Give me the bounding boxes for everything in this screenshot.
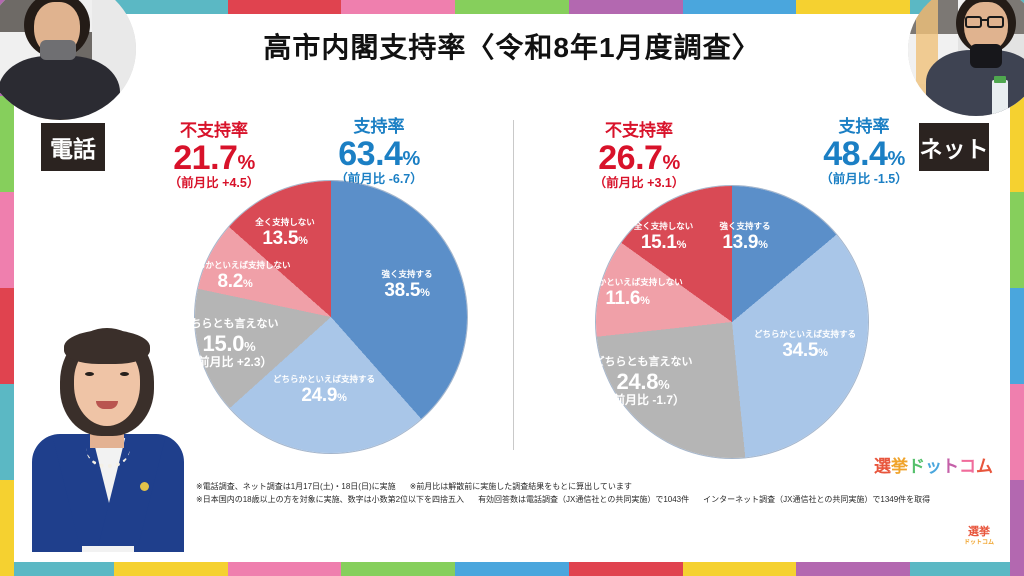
footnote-1a: ※電話調査、ネット調査は1月17日(土)・18日(日)に実施 — [196, 482, 396, 491]
headline-support-telephone: 支持率 63.4% （前月比 -6.7） — [304, 118, 454, 188]
slice-value: 15.1 — [641, 232, 677, 253]
corner-logo-top: 選挙 — [958, 527, 1000, 538]
headline-oppose-value: 26.7% — [569, 141, 709, 175]
percent-sign: % — [402, 148, 419, 170]
logo-char: ド — [908, 457, 925, 476]
logo-char: ッ — [925, 457, 942, 476]
glasses-icon — [965, 16, 982, 28]
slice-name: 全く支持しない — [230, 218, 340, 228]
slice-label-strong-oppose-tel: 全く支持しない 13.5% — [230, 218, 340, 250]
footnote-2c: インターネット調査（JX通信社との共同実施）で1349件を取得 — [703, 495, 930, 504]
logo-char: コ — [959, 457, 976, 476]
slice-value: 13.9 — [722, 232, 758, 253]
corner-watermark-logo: 選挙 ドットコム — [958, 522, 1000, 556]
logo-char: 選 — [874, 457, 891, 476]
slice-label-strong-oppose-net: 全く支持しない 15.1% — [606, 222, 721, 254]
slice-value: 8.2 — [218, 271, 244, 292]
video-overlay-right-speaker[interactable] — [908, 0, 1024, 116]
logo-char: ト — [942, 457, 959, 476]
slice-delta: （前月比 -1.7） — [568, 394, 718, 408]
slice-label-somewhat-oppose-net: どちらかといえば支持しない 11.6% — [570, 278, 685, 310]
slice-name: どちらかといえば支持する — [269, 375, 379, 385]
slice-name: 全く支持しない — [606, 222, 721, 232]
slice-value: 13.5 — [262, 228, 298, 249]
slice-value: 24.9 — [301, 385, 337, 406]
footnote-line-1: ※電話調査、ネット調査は1月17日(土)・18日(日)に実施※前月比は解散前に実… — [196, 480, 986, 493]
frame-segment — [0, 384, 14, 480]
slice-name: どちらかといえば支持しない — [180, 261, 290, 271]
slice-label-somewhat-support-tel: どちらかといえば支持する 24.9% — [269, 375, 379, 407]
percent-sign: % — [887, 148, 904, 170]
slice-name: どちらとも言えない — [568, 356, 718, 369]
headline-oppose-telephone: 不支持率 21.7% （前月比 +4.5） — [144, 122, 284, 192]
logo-char: ム — [976, 457, 993, 476]
percent-sign: % — [662, 152, 679, 174]
portrait-eye-left — [85, 372, 94, 376]
footnote-2b: 有効回答数は電話調査（JX通信社との共同実施）で1043件 — [478, 495, 689, 504]
cam-person-turtleneck — [970, 44, 1002, 68]
footnotes: ※電話調査、ネット調査は1月17日(土)・18日(日)に実施※前月比は解散前に実… — [196, 480, 986, 506]
headline-support-delta: （前月比 -1.5） — [789, 171, 939, 189]
slice-value: 15.0 — [203, 331, 245, 356]
headline-oppose-value: 21.7% — [144, 141, 284, 175]
glasses-bridge — [982, 19, 988, 21]
water-bottle-cap — [994, 76, 1006, 83]
slice-label-somewhat-oppose-tel: どちらかといえば支持しない 8.2% — [180, 261, 290, 293]
senkyo-dotcom-logo: 選挙ドットコム — [874, 452, 993, 477]
headline-oppose-internet: 不支持率 26.7% （前月比 +3.1） — [569, 122, 709, 192]
footnote-line-2: ※日本国内の18歳以上の方を対象に実施、数字は小数第2位以下を四捨五入有効回答数… — [196, 493, 986, 506]
footnote-1b: ※前月比は解散前に実施した調査結果をもとに算出しています — [410, 482, 632, 491]
logo-char: 挙 — [891, 457, 908, 476]
slice-value: 34.5 — [782, 340, 818, 361]
percent-sign: % — [237, 152, 254, 174]
slice-value: 11.6 — [605, 288, 640, 309]
slice-value: 38.5 — [384, 280, 420, 301]
video-overlay-left-speaker[interactable] — [0, 0, 136, 120]
slice-value: 24.8 — [617, 369, 659, 394]
headline-oppose-delta: （前月比 +4.5） — [144, 175, 284, 193]
headline-oppose-delta: （前月比 +3.1） — [569, 175, 709, 193]
slice-name: 強く支持する — [347, 270, 467, 280]
frame-segment — [0, 192, 14, 288]
slice-label-somewhat-support-net: どちらかといえば支持する 34.5% — [745, 330, 865, 362]
portrait-eye-right — [120, 372, 129, 376]
headline-support-internet: 支持率 48.4% （前月比 -1.5） — [789, 118, 939, 188]
cam-person-body — [0, 56, 120, 120]
cam-person-collar — [40, 40, 76, 60]
slice-label-neither-net: どちらとも言えない 24.8% （前月比 -1.7） — [568, 356, 718, 408]
slice-name: どちらかといえば支持しない — [570, 278, 685, 288]
slice-name: どちらかといえば支持する — [745, 330, 865, 340]
headline-support-value: 63.4% — [304, 137, 454, 171]
portrait-hair-front — [64, 330, 150, 364]
portrait-lapel-pin — [140, 482, 149, 491]
politician-portrait — [24, 322, 192, 552]
frame-segment — [0, 288, 14, 384]
broadcast-slide: 高市内閣支持率〈令和8年1月度調査〉 電話 ネット 不支持率 21.7% （前月… — [0, 0, 1024, 576]
corner-logo-bottom: ドットコム — [958, 540, 1000, 546]
water-bottle — [992, 80, 1008, 116]
frame-segment — [0, 480, 14, 576]
headline-support-value: 48.4% — [789, 137, 939, 171]
slice-label-strong-support-tel: 強く支持する 38.5% — [347, 270, 467, 302]
glasses-icon — [987, 16, 1004, 28]
footnote-2a: ※日本国内の18歳以上の方を対象に実施、数字は小数第2位以下を四捨五入 — [196, 495, 464, 504]
